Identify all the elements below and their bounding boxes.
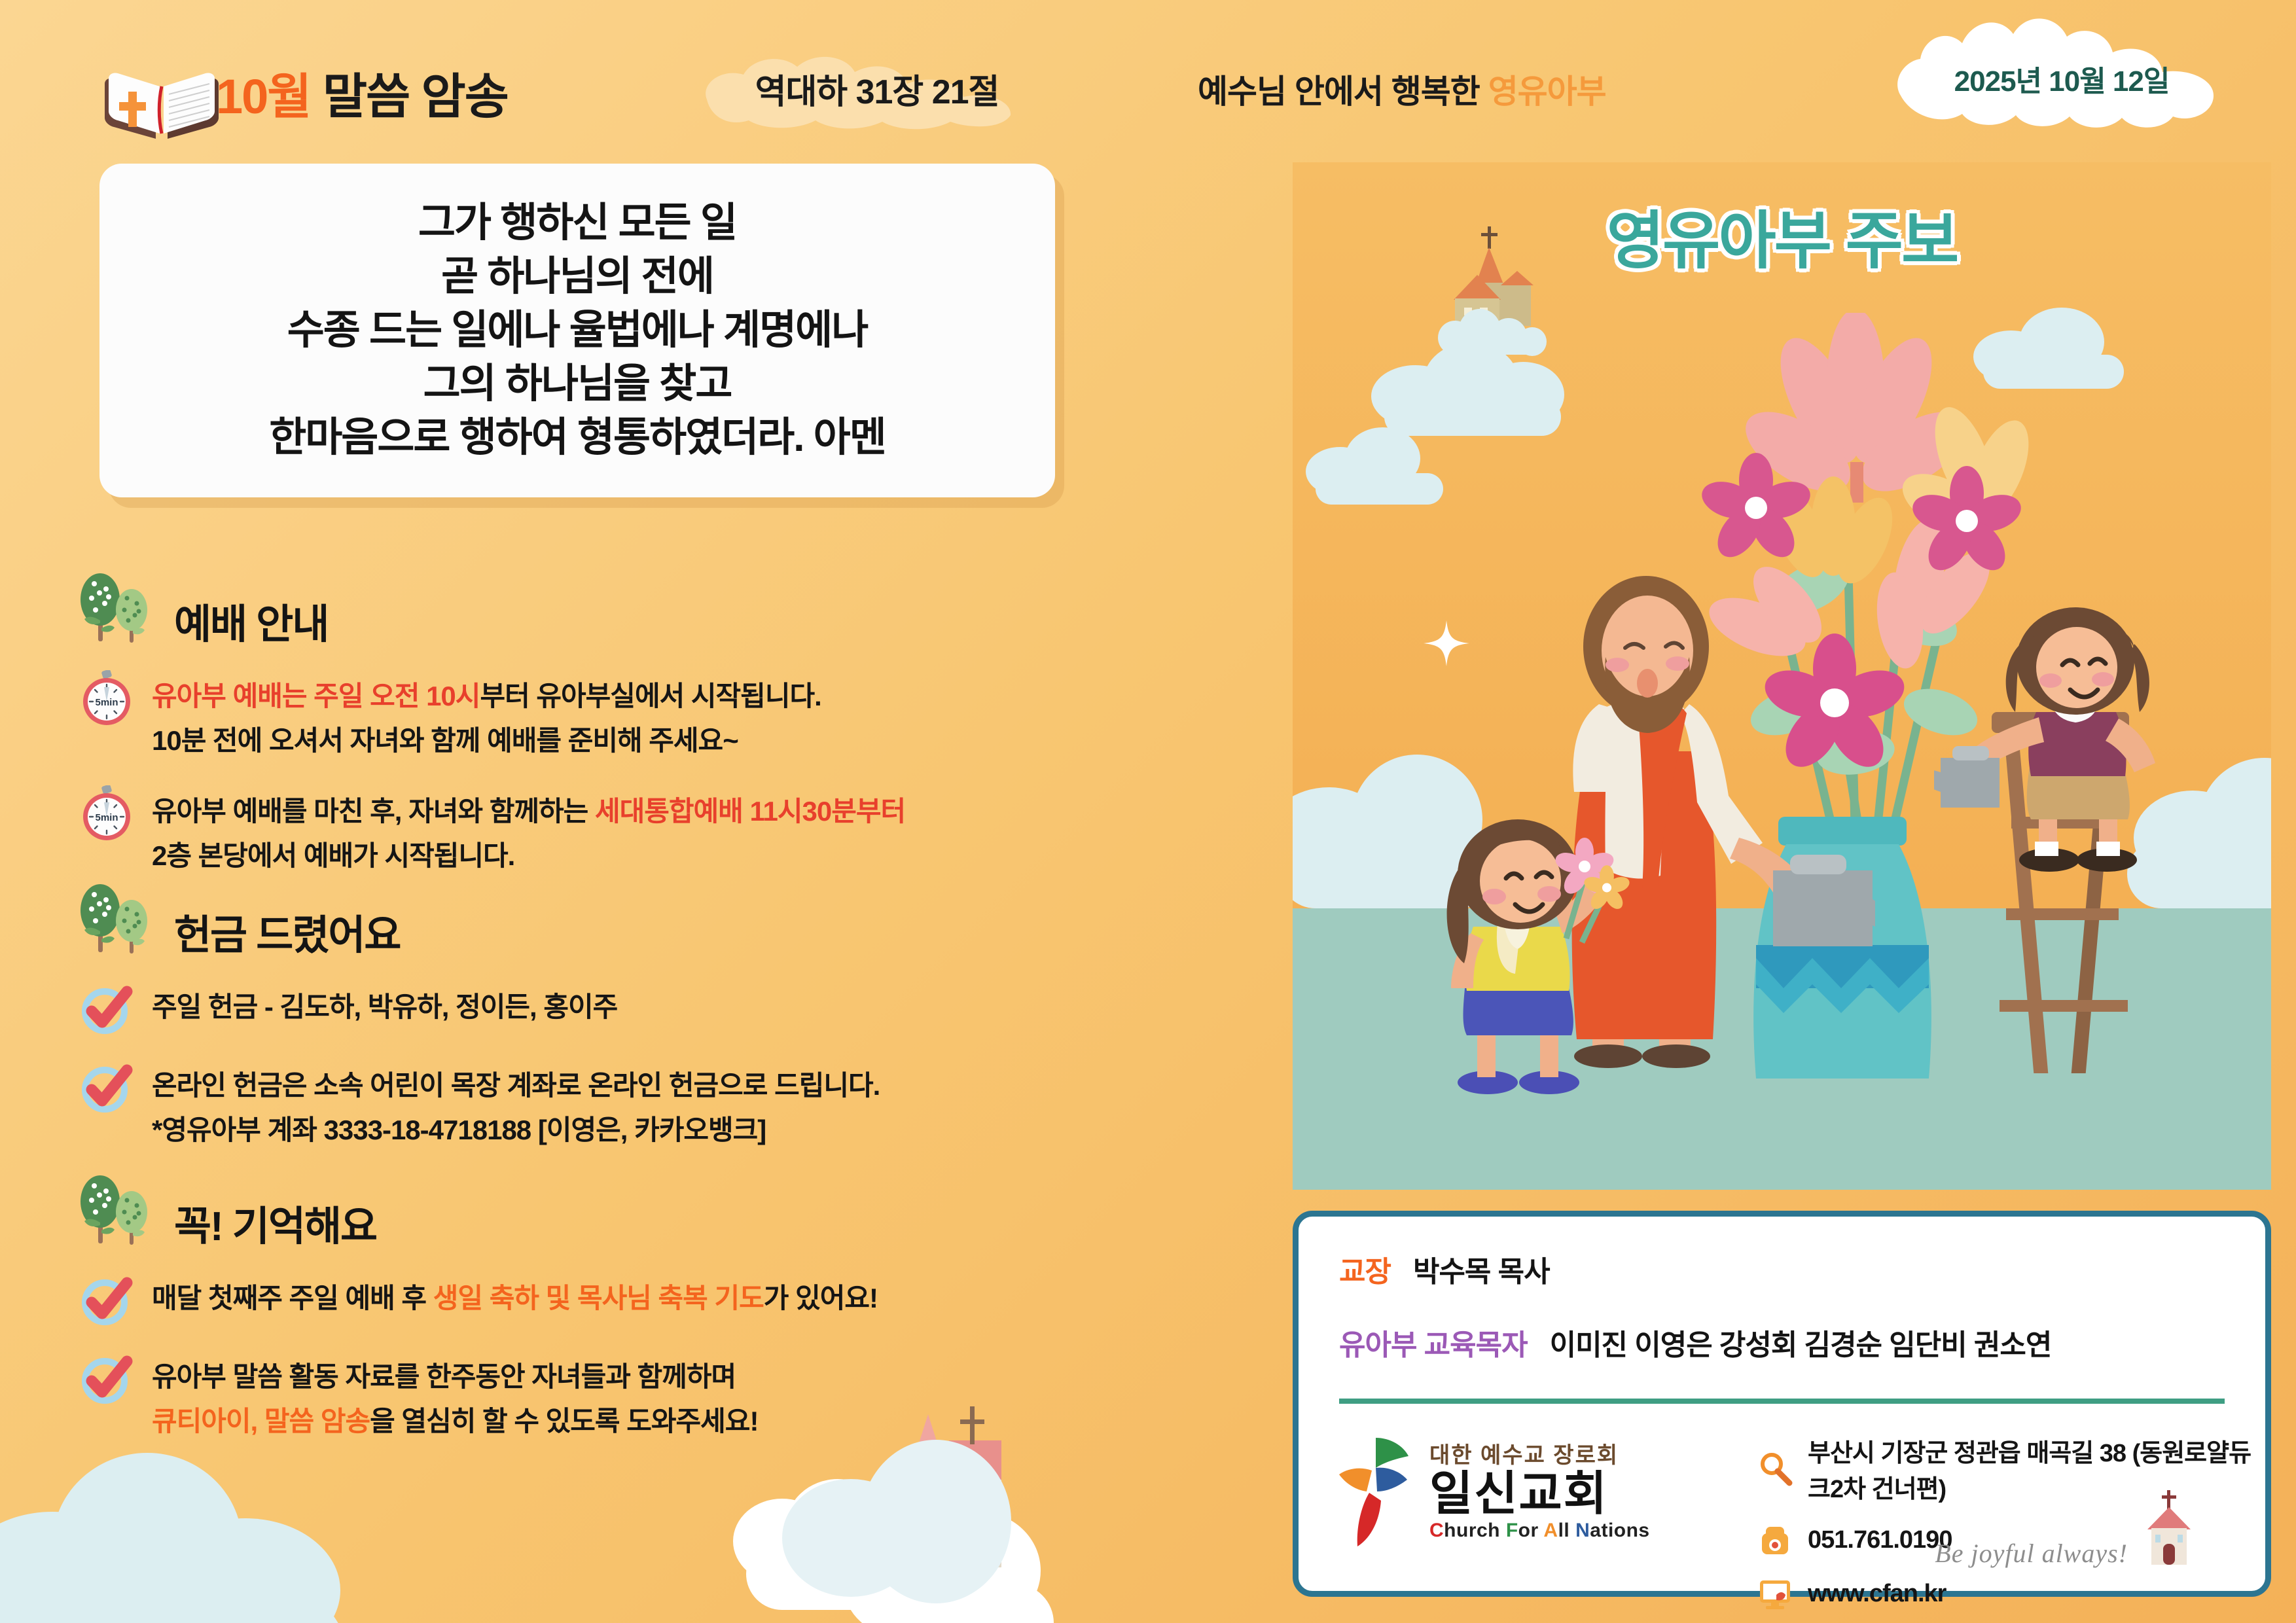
cfan-pinwheel-logo [1335,1427,1414,1552]
contact-website[interactable]: www.cfan.kr [1757,1575,2265,1612]
text-run: 2층 본당에서 예배가 시작됩니다. [152,840,514,871]
child-right [1934,601,2189,876]
section-header: 예배 안내 [79,569,1100,648]
search-pin-icon [1757,1450,1793,1487]
scripture-line: 그의 하나님을 찾고 [269,357,886,411]
title-rest: 말씀 암송 [323,69,508,124]
scripture-line: 수종 드는 일에나 율법에나 계명에나 [269,304,886,357]
section-title: 헌금 드렸어요 [174,916,400,959]
text-run: 유아부 예배는 주일 오전 10시 [152,681,480,711]
month-label: 10월 [216,69,310,124]
small-church-icon [2133,1489,2205,1567]
church-name: 일신교회 [1429,1469,1650,1520]
bulletin-page: 10월 말씀 암송 역대하 31장 21절 그가 행하신 모든 일곧 하나님의 … [0,0,2296,1623]
open-bible-icon [99,60,224,145]
text-run: 유아부 예배를 마친 후, 자녀와 함께하는 [152,796,595,827]
bullet-text: 유아부 예배는 주일 오전 10시부터 유아부실에서 시작됩니다.10분 전에 … [152,674,821,763]
bullet-text: 매달 첫째주 주일 예배 후 생일 축하 및 목사님 축복 기도가 있어요! [152,1276,878,1321]
text-run: 가 있어요! [764,1283,878,1313]
text-run: *영유아부 계좌 3333-18-4718188 [이영은, 카카오뱅크] [152,1115,766,1145]
denomination: 대한 예수교 장로회 [1429,1437,1650,1469]
verse-reference: 역대하 31장 21절 [694,64,1060,113]
section-1: 예배 안내 5min 유아부 예배는 주일 오전 10시부터 유아부실에서 시작… [79,569,1100,878]
section-title: 예배 안내 [174,605,328,648]
scripture-lines: 그가 행하신 모든 일곧 하나님의 전에수종 드는 일에나 율법에나 계명에나그… [269,196,886,464]
bullet-item: 온라인 헌금은 소속 어린이 목장 계좌로 온라인 헌금으로 드립니다.*영유아… [79,1063,1100,1152]
section-2: 헌금 드렸어요 주일 헌금 - 김도하, 박유하, 정이든, 홍이주 온라인 헌… [79,880,1100,1152]
scripture-line: 그가 행하신 모든 일 [269,196,886,250]
scripture-line: 한마음으로 행하여 형통하였더라. 아멘 [269,411,886,465]
bullet-text: 주일 헌금 - 김도하, 박유하, 정이든, 홍이주 [152,985,617,1029]
check-circle-icon [79,1272,135,1329]
text-run: 유아부 말씀 활동 자료를 한주동안 자녀들과 함께하며 [152,1361,736,1392]
text-run: 생일 축하 및 목사님 축복 기도 [433,1283,764,1313]
stopwatch-icon: 5min [79,670,135,726]
child-left [1410,817,1646,1098]
bulletin-title: 영유아부 주보 [1293,190,2271,281]
section-header: 헌금 드렸어요 [79,880,1100,959]
slogan: 예수님 안에서 행복한 영유아부 [1198,65,1606,113]
bullet-item: 주일 헌금 - 김도하, 박유하, 정이든, 홍이주 [79,985,1100,1037]
issue-date: 2025년 10월 12일 [1892,58,2232,99]
svg-text:5min: 5min [95,697,118,708]
text-run: 큐티아이, 말씀 암송 [152,1406,370,1436]
check-circle-icon [79,1060,135,1116]
two-trees-icon [79,1171,157,1250]
telephone-icon [1757,1522,1793,1558]
bullet-item: 5min 유아부 예배를 마친 후, 자녀와 함께하는 세대통합예배 11시30… [79,789,1100,878]
website-text: www.cfan.kr [1808,1580,1946,1608]
scripture-line: 곧 하나님의 전에 [269,250,886,304]
church-english-name: Church For All Nations [1429,1520,1650,1542]
text-run: 을 열심히 할 수 있도록 도와주세요! [370,1406,758,1436]
text-run: 주일 헌금 - 김도하, 박유하, 정이든, 홍이주 [152,991,617,1022]
divider [1339,1399,2225,1404]
teachers-label: 유아부 교육목자 [1339,1321,1528,1363]
staff-row-teachers: 유아부 교육목자 이미진 이영은 강성회 김경순 임단비 권소연 [1339,1321,2051,1363]
illustration-panel: 영유아부 주보 [1293,162,2271,1190]
text-run: 온라인 헌금은 소속 어린이 목장 계좌로 온라인 헌금으로 드립니다. [152,1070,880,1101]
bullet-text: 유아부 말씀 활동 자료를 한주동안 자녀들과 함께하며큐티아이, 말씀 암송을… [152,1355,758,1444]
right-column: 예수님 안에서 행복한 영유아부 2025년 10월 12일 영유아부 주보 [1152,0,2296,1623]
sparkle-icon [1424,620,1469,666]
page-title: 10월 말씀 암송 [216,58,508,128]
bullet-item: 5min 유아부 예배는 주일 오전 10시부터 유아부실에서 시작됩니다.10… [79,674,1100,763]
principal-label: 교장 [1339,1248,1391,1290]
church-logo-block: 대한 예수교 장로회 일신교회 Church For All Nations [1335,1427,1650,1552]
staff-info-box: 교장 박수목 목사 유아부 교육목자 이미진 이영은 강성회 김경순 임단비 권… [1293,1211,2271,1597]
slogan-plain: 예수님 안에서 행복한 [1198,73,1488,110]
tagline: Be joyful always! [1935,1538,2128,1569]
bullet-text: 유아부 예배를 마친 후, 자녀와 함께하는 세대통합예배 11시30분부터2층… [152,789,905,878]
section-title: 꼭! 기억해요 [174,1207,376,1250]
text-run: 매달 첫째주 주일 예배 후 [152,1283,433,1313]
principal-name: 박수목 목사 [1413,1248,1550,1290]
stopwatch-icon: 5min [79,785,135,842]
bullet-item: 매달 첫째주 주일 예배 후 생일 축하 및 목사님 축복 기도가 있어요! [79,1276,1100,1329]
staff-row-principal: 교장 박수목 목사 [1339,1248,1550,1290]
check-circle-icon [79,1351,135,1407]
slogan-accent: 영유아부 [1488,73,1606,110]
phone-text: 051.761.0190 [1808,1526,1952,1554]
left-column: 10월 말씀 암송 역대하 31장 21절 그가 행하신 모든 일곧 하나님의 … [0,0,1152,1623]
two-trees-icon [79,880,157,959]
two-trees-icon [79,569,157,648]
text-run: 세대통합예배 11시30분부터 [595,796,905,827]
bullet-text: 온라인 헌금은 소속 어린이 목장 계좌로 온라인 헌금으로 드립니다.*영유아… [152,1063,880,1152]
monitor-icon [1757,1575,1793,1612]
scripture-card: 그가 행하신 모든 일곧 하나님의 전에수종 드는 일에나 율법에나 계명에나그… [99,164,1055,497]
text-run: 10분 전에 오셔서 자녀와 함께 예배를 준비해 주세요~ [152,725,738,756]
teachers-names: 이미진 이영은 강성회 김경순 임단비 권소연 [1550,1321,2052,1363]
check-circle-icon [79,981,135,1037]
svg-text:5min: 5min [95,812,118,823]
text-run: 부터 유아부실에서 시작됩니다. [480,681,821,711]
section-header: 꼭! 기억해요 [79,1171,1100,1250]
